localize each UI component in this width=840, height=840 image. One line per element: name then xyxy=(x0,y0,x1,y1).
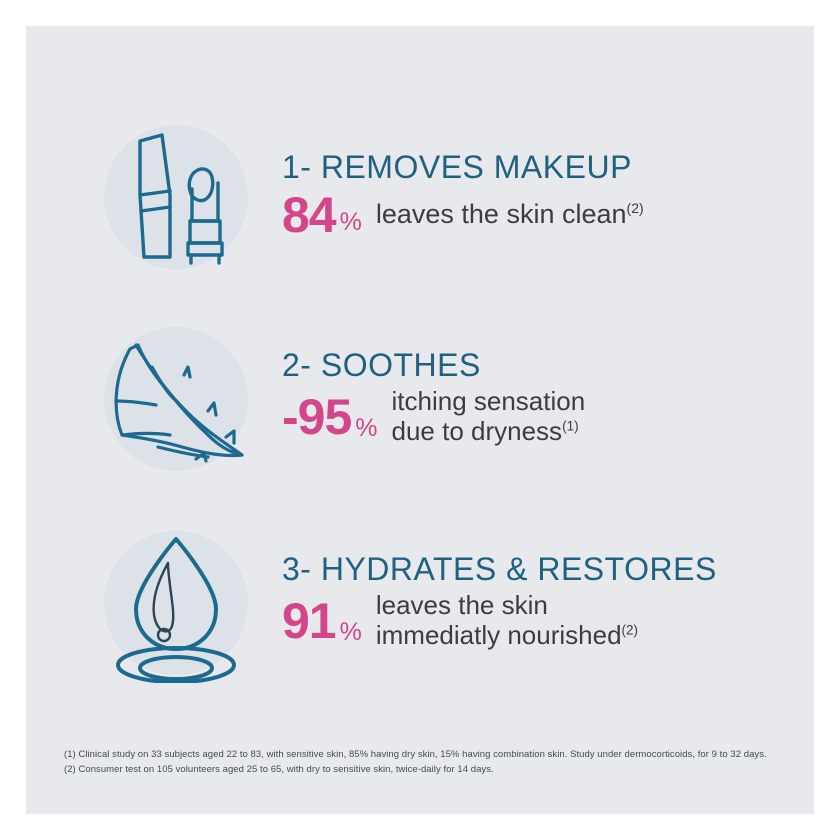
benefit-icon-container-1 xyxy=(96,117,256,277)
benefit-heading-1: 1- REMOVES MAKEUP xyxy=(282,150,814,185)
stat-description-2: itching sensationdue to dryness(1) xyxy=(392,387,586,445)
stat-footnote-ref-3: (2) xyxy=(622,622,639,637)
stat-description-3-line2: immediatly nourished xyxy=(376,620,622,650)
stat-footnote-ref-2: (1) xyxy=(562,418,579,433)
benefit-stat-3: 91 % leaves the skinimmediatly nourished… xyxy=(282,591,814,649)
benefit-stat-2: -95 % itching sensationdue to dryness(1) xyxy=(282,387,814,445)
stat-number-1: 84 xyxy=(282,190,336,240)
water-drop-icon xyxy=(96,523,256,683)
stat-description-2-line2: due to dryness xyxy=(392,416,563,446)
stat-percent-3: % xyxy=(340,620,362,650)
benefit-text-3: 3- HYDRATES & RESTORES 91 % leaves the s… xyxy=(282,552,814,653)
stat-percent-2: % xyxy=(355,416,377,446)
benefit-row-1: 1- REMOVES MAKEUP 84 % leaves the skin c… xyxy=(26,102,814,292)
makeup-icon xyxy=(96,117,256,277)
benefit-text-1: 1- REMOVES MAKEUP 84 % leaves the skin c… xyxy=(282,150,814,243)
stat-number-2: -95 xyxy=(282,392,351,442)
benefit-text-2: 2- SOOTHES -95 % itching sensationdue to… xyxy=(282,348,814,449)
benefit-heading-2: 2- SOOTHES xyxy=(282,348,814,383)
footnote-2: (2) Consumer test on 105 volunteers aged… xyxy=(64,763,804,778)
footnote-1: (1) Clinical study on 33 subjects aged 2… xyxy=(64,748,804,763)
stat-description-1-line1: leaves the skin clean xyxy=(376,199,627,229)
stat-description-2-line1: itching sensation xyxy=(392,386,586,416)
benefit-icon-container-3 xyxy=(96,523,256,683)
stat-description-3-line1: leaves the skin xyxy=(376,590,548,620)
stat-number-3: 91 xyxy=(282,596,336,646)
stat-footnote-ref-1: (2) xyxy=(627,200,644,216)
stat-description-1: leaves the skin clean(2) xyxy=(376,199,644,229)
benefit-row-2: 2- SOOTHES -95 % itching sensationdue to… xyxy=(26,304,814,494)
footnotes: (1) Clinical study on 33 subjects aged 2… xyxy=(64,748,804,777)
stat-percent-1: % xyxy=(340,210,362,240)
benefit-row-3: 3- HYDRATES & RESTORES 91 % leaves the s… xyxy=(26,508,814,698)
feather-icon xyxy=(96,319,256,479)
benefit-stat-1: 84 % leaves the skin clean(2) xyxy=(282,190,814,240)
stat-description-3: leaves the skinimmediatly nourished(2) xyxy=(376,591,638,649)
benefit-icon-container-2 xyxy=(96,319,256,479)
benefit-heading-3: 3- HYDRATES & RESTORES xyxy=(282,552,814,587)
benefits-infographic: 1- REMOVES MAKEUP 84 % leaves the skin c… xyxy=(26,26,814,814)
